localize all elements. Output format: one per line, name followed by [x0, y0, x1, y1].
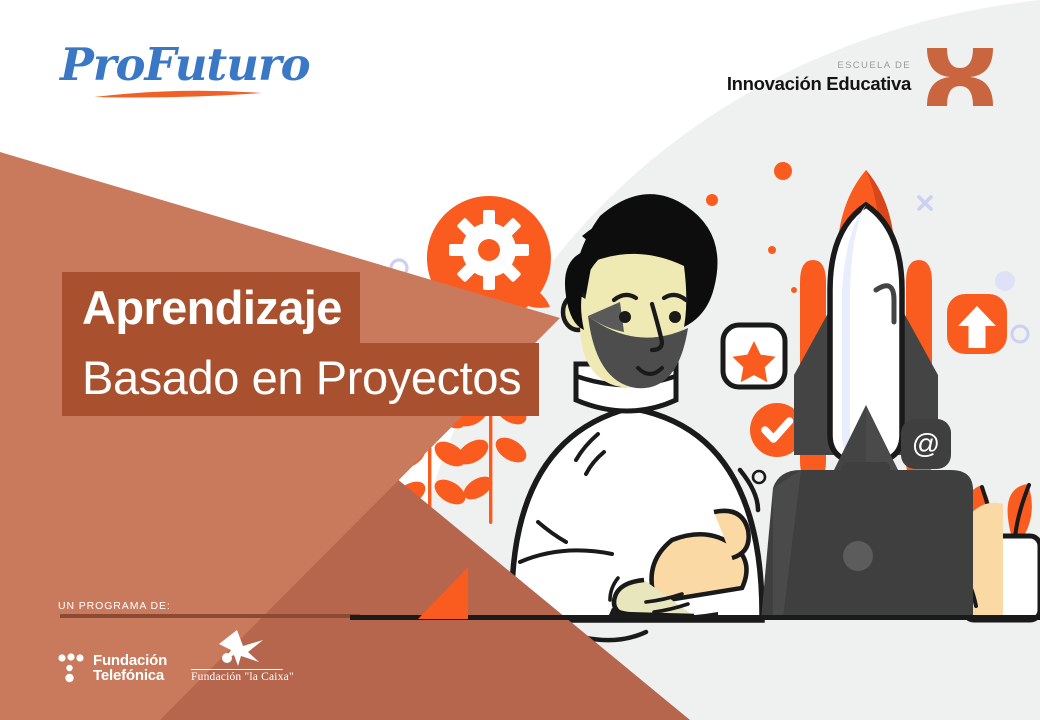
slide-cover: @ [0, 0, 1040, 720]
illustration-foreground [0, 0, 1040, 720]
coffee-mug-front [398, 563, 468, 619]
